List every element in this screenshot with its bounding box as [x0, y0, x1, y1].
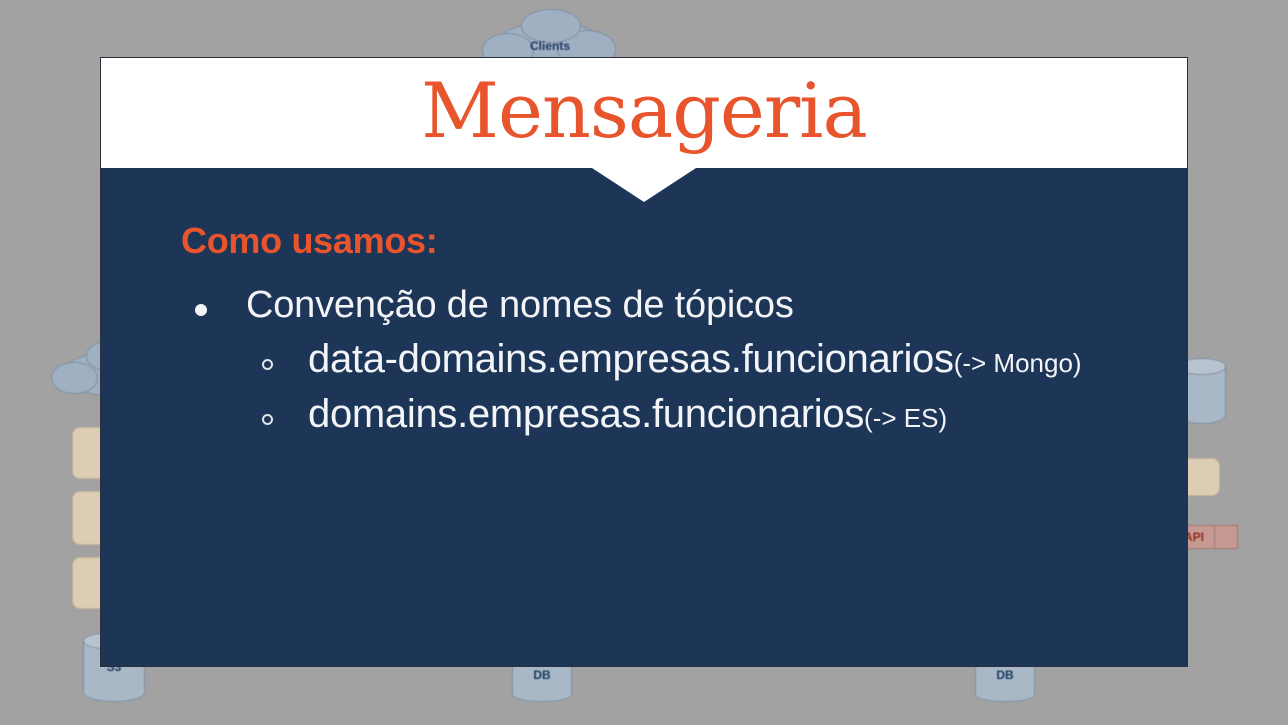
- bullet-circle-icon: [262, 414, 273, 425]
- bullet-list-level2: data-domains.empresas.funcionarios(-> Mo…: [246, 337, 1107, 437]
- bullet-level2-note: (-> ES): [864, 403, 947, 433]
- section-heading: Como usamos:: [181, 220, 1107, 262]
- api-box-divider: [1214, 526, 1215, 548]
- diagram-database-right-label: DB: [996, 668, 1013, 682]
- list-item: data-domains.empresas.funcionarios(-> Mo…: [246, 337, 1107, 382]
- bullet-level2-text: data-domains.empresas.funcionarios: [308, 337, 954, 381]
- slide-body: Como usamos: Convenção de nomes de tópic…: [101, 168, 1187, 666]
- diagram-database-center-label: DB: [533, 668, 550, 682]
- bullet-circle-icon: [262, 359, 273, 370]
- bullet-disc-icon: [195, 304, 207, 316]
- bullet-list-level1: Convenção de nomes de tópicos data-domai…: [181, 284, 1107, 437]
- slide-overlay: Mensageria Como usamos: Convenção de nom…: [100, 57, 1188, 667]
- header-notch-triangle: [592, 168, 696, 202]
- slide-header: Mensageria: [101, 58, 1187, 168]
- list-item: Convenção de nomes de tópicos data-domai…: [181, 284, 1107, 437]
- bullet-level1-text: Convenção de nomes de tópicos: [246, 284, 794, 326]
- bullet-level2-note: (-> Mongo): [954, 348, 1082, 378]
- diagram-cloud-clients-label: Clients: [530, 39, 570, 53]
- list-item: domains.empresas.funcionarios(-> ES): [246, 392, 1107, 437]
- bullet-level2-text: domains.empresas.funcionarios: [308, 392, 864, 436]
- slide-title: Mensageria: [421, 73, 867, 149]
